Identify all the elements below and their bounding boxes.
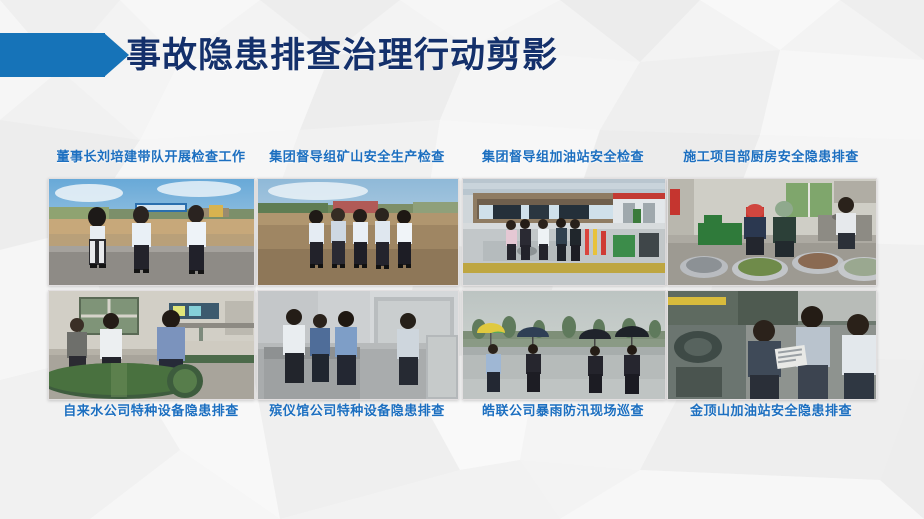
photo-caption-4: 施工项目部厨房安全隐患排查 <box>667 150 875 166</box>
photo-8[interactable] <box>667 290 877 400</box>
banner-accent-rectangle <box>0 33 105 77</box>
photo-caption-2: 集团督导组矿山安全生产检查 <box>257 150 457 166</box>
photo-6[interactable] <box>257 290 459 400</box>
photo-caption-1: 董事长刘培建带队开展检查工作 <box>48 150 254 166</box>
page-title: 事故隐患排查治理行动剪影 <box>126 36 558 76</box>
photo-5[interactable] <box>48 290 255 400</box>
photo-caption-3: 集团督导组加油站安全检查 <box>462 150 664 166</box>
photo-caption-7: 皓联公司暴雨防汛现场巡查 <box>462 404 664 420</box>
photo-2[interactable] <box>257 178 459 286</box>
slide-header: 事故隐患排查治理行动剪影 <box>0 0 924 100</box>
photo-caption-5: 自来水公司特种设备隐患排查 <box>48 404 254 420</box>
photo-4[interactable] <box>667 178 877 286</box>
slide-canvas: 事故隐患排查治理行动剪影 董事长刘培建带队开展检查工作 集团督导组矿山安全生产检… <box>0 0 924 519</box>
photo-7[interactable] <box>462 290 666 400</box>
photo-caption-8: 金顶山加油站安全隐患排查 <box>667 404 875 420</box>
photo-3[interactable] <box>462 178 666 286</box>
photo-caption-6: 殡仪馆公司特种设备隐患排查 <box>257 404 457 420</box>
photo-1[interactable] <box>48 178 255 286</box>
